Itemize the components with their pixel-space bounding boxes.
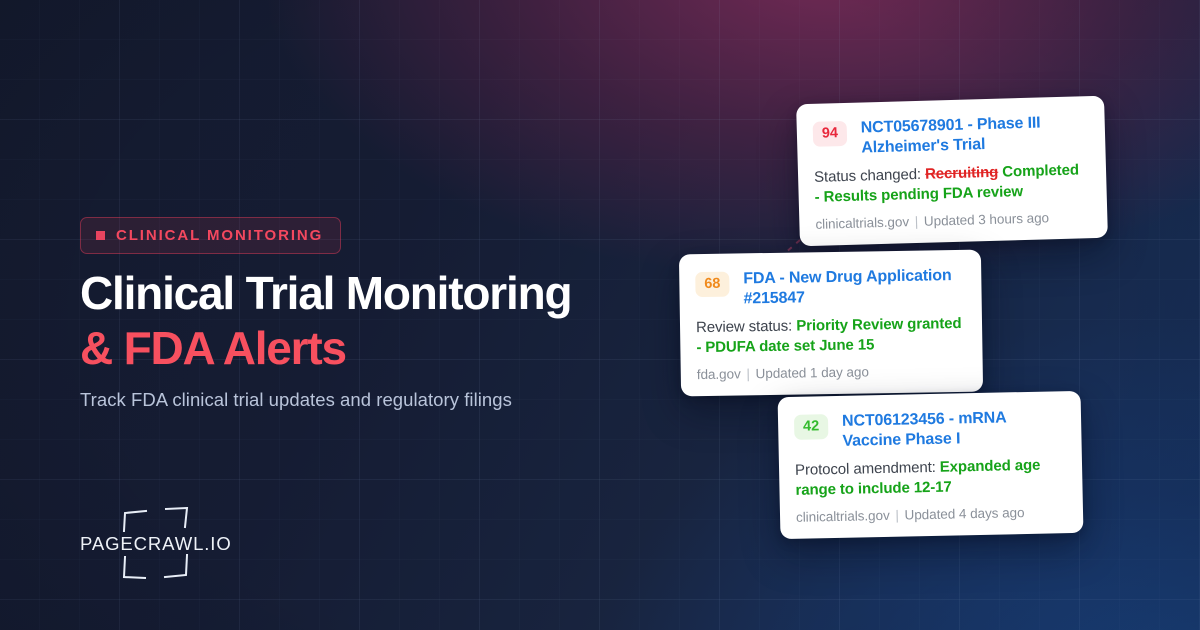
meta-separator: | bbox=[913, 214, 921, 229]
headline-line-2: & FDA Alerts bbox=[80, 325, 680, 371]
eyebrow-label: CLINICAL MONITORING bbox=[116, 227, 323, 244]
alert-updated: Updated 4 days ago bbox=[904, 505, 1024, 523]
meta-separator: | bbox=[744, 366, 752, 381]
status-badge: 68 bbox=[695, 272, 729, 297]
status-badge: 94 bbox=[813, 121, 848, 147]
alert-change-prefix: Status changed: bbox=[814, 166, 925, 186]
alert-source: clinicaltrials.gov bbox=[815, 214, 909, 232]
alert-card[interactable]: 94 NCT05678901 - Phase III Alzheimer's T… bbox=[796, 96, 1108, 246]
alert-card-title[interactable]: NCT05678901 - Phase III Alzheimer's Tria… bbox=[861, 112, 1086, 159]
alert-card-title[interactable]: NCT06123456 - mRNA Vaccine Phase I bbox=[842, 407, 1062, 453]
alert-card-header: 94 NCT05678901 - Phase III Alzheimer's T… bbox=[813, 112, 1086, 161]
alert-card-meta: clinicaltrials.gov | Updated 3 hours ago bbox=[815, 209, 1087, 232]
alert-change-prefix: Review status: bbox=[696, 317, 796, 336]
alert-source: fda.gov bbox=[697, 366, 741, 382]
page-subtitle: Track FDA clinical trial updates and reg… bbox=[80, 389, 512, 411]
status-badge: 42 bbox=[794, 414, 829, 439]
alert-card-title[interactable]: FDA - New Drug Application #215847 bbox=[743, 266, 962, 310]
alert-card-body: Review status: Priority Review granted -… bbox=[696, 314, 963, 358]
square-bullet-icon bbox=[96, 231, 105, 240]
alert-card-body: Protocol amendment: Expanded age range t… bbox=[795, 455, 1063, 500]
alert-source: clinicaltrials.gov bbox=[796, 508, 890, 525]
alert-change-prefix: Protocol amendment: bbox=[795, 459, 940, 479]
alert-card-header: 42 NCT06123456 - mRNA Vaccine Phase I bbox=[794, 407, 1062, 454]
alert-updated: Updated 1 day ago bbox=[755, 364, 868, 381]
alert-card[interactable]: 68 FDA - New Drug Application #215847 Re… bbox=[679, 250, 983, 397]
alert-card-meta: clinicaltrials.gov | Updated 4 days ago bbox=[796, 504, 1063, 525]
hero-text-column: CLINICAL MONITORING Clinical Trial Monit… bbox=[80, 0, 680, 630]
headline-line-1: Clinical Trial Monitoring bbox=[80, 267, 571, 319]
alert-card[interactable]: 42 NCT06123456 - mRNA Vaccine Phase I Pr… bbox=[778, 391, 1084, 539]
logo: PAGECRAWL.IO bbox=[80, 505, 330, 585]
meta-separator: | bbox=[893, 507, 901, 522]
alert-card-header: 68 FDA - New Drug Application #215847 bbox=[695, 266, 962, 311]
logo-text: PAGECRAWL.IO bbox=[80, 533, 232, 555]
alert-removed-text: Recruiting bbox=[925, 164, 999, 183]
page-title: Clinical Trial Monitoring & FDA Alerts bbox=[80, 270, 680, 371]
alert-card-body: Status changed: Recruiting Completed - R… bbox=[814, 160, 1087, 207]
alert-card-meta: fda.gov | Updated 1 day ago bbox=[697, 363, 963, 382]
hero-banner: CLINICAL MONITORING Clinical Trial Monit… bbox=[0, 0, 1200, 630]
alert-updated: Updated 3 hours ago bbox=[924, 210, 1050, 228]
eyebrow-badge: CLINICAL MONITORING bbox=[80, 217, 341, 254]
